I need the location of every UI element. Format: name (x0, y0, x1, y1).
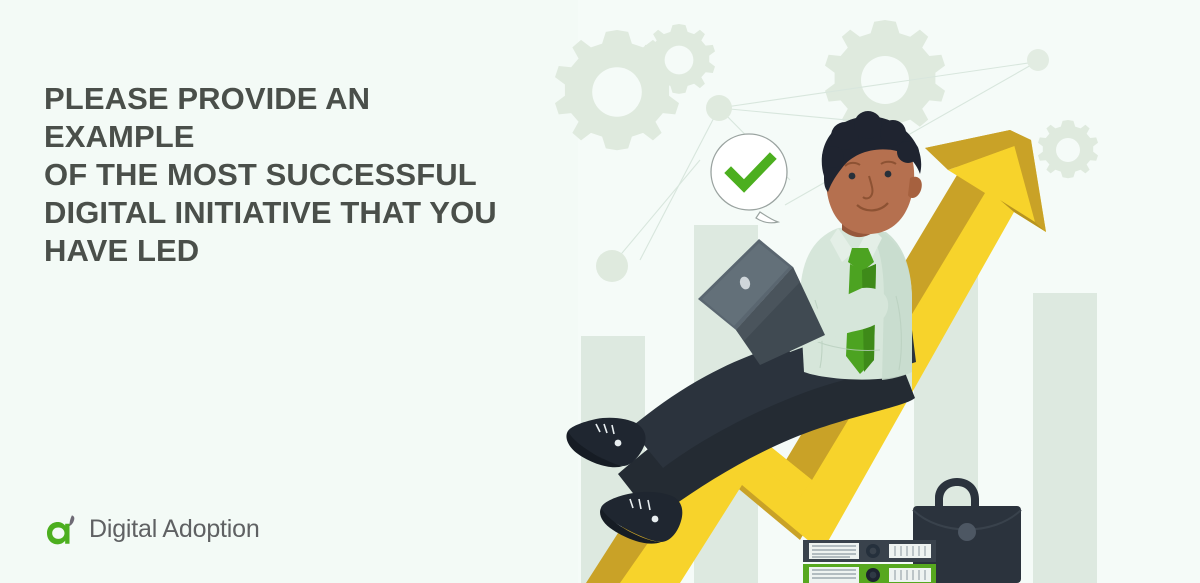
person-leg-lower (618, 357, 915, 520)
gear-large-left (555, 30, 679, 150)
illustration-panel (578, 0, 1200, 583)
person-neck (842, 200, 874, 237)
laptop-base (736, 267, 825, 365)
person-hair (822, 116, 921, 192)
brand-name: Digital Adoption (89, 517, 260, 544)
person-arm (776, 288, 888, 352)
node-circle-left (596, 250, 628, 282)
check-icon (731, 159, 770, 186)
gear-large-right (825, 20, 945, 136)
person-shirt-back (832, 254, 912, 392)
briefcase-body (913, 506, 1021, 583)
digital-adoption-a-leaf-icon (44, 510, 84, 550)
laptop (698, 239, 825, 365)
binder-top (803, 540, 936, 562)
person-seated (566, 111, 921, 544)
node-circle-center (706, 95, 732, 121)
briefcase-handle (935, 478, 979, 512)
person-leg-upper (630, 328, 916, 468)
bubble-circle (711, 134, 787, 210)
person-smile (857, 203, 888, 210)
bar-column-2 (694, 225, 758, 583)
gear-small-top (643, 24, 715, 94)
person-shirt (800, 226, 912, 380)
node-circle-right (1027, 49, 1049, 71)
bar-column-1 (581, 336, 645, 583)
person-shoe-upper (566, 418, 645, 467)
slide-root: PLEASE PROVIDE AN EXAMPLE OF THE MOST SU… (0, 0, 1200, 583)
briefcase (913, 478, 1021, 583)
person-hand-front (748, 317, 787, 341)
bar-column-3 (914, 262, 978, 583)
bar-column-4 (1033, 293, 1097, 583)
growth-arrow (586, 130, 1046, 583)
laptop-screen (698, 239, 793, 330)
speech-bubble-checkmark (711, 134, 787, 223)
person-head (826, 128, 914, 234)
person-tie (848, 248, 874, 272)
person-shoe-lower (600, 492, 682, 544)
laptop-logo (738, 275, 752, 290)
connector-lines (612, 60, 1040, 265)
person-hand-back (774, 305, 812, 329)
binder-bottom (803, 564, 936, 583)
gear-small-right (1038, 120, 1098, 178)
page-title: PLEASE PROVIDE AN EXAMPLE OF THE MOST SU… (44, 80, 514, 270)
person-eye-right (885, 171, 892, 178)
briefcase-flap-line (913, 510, 1021, 530)
person-eye-left (849, 173, 856, 180)
brand-logo[interactable]: Digital Adoption (44, 510, 260, 550)
briefcase-clasp (958, 523, 976, 541)
binder-stack (803, 540, 936, 583)
